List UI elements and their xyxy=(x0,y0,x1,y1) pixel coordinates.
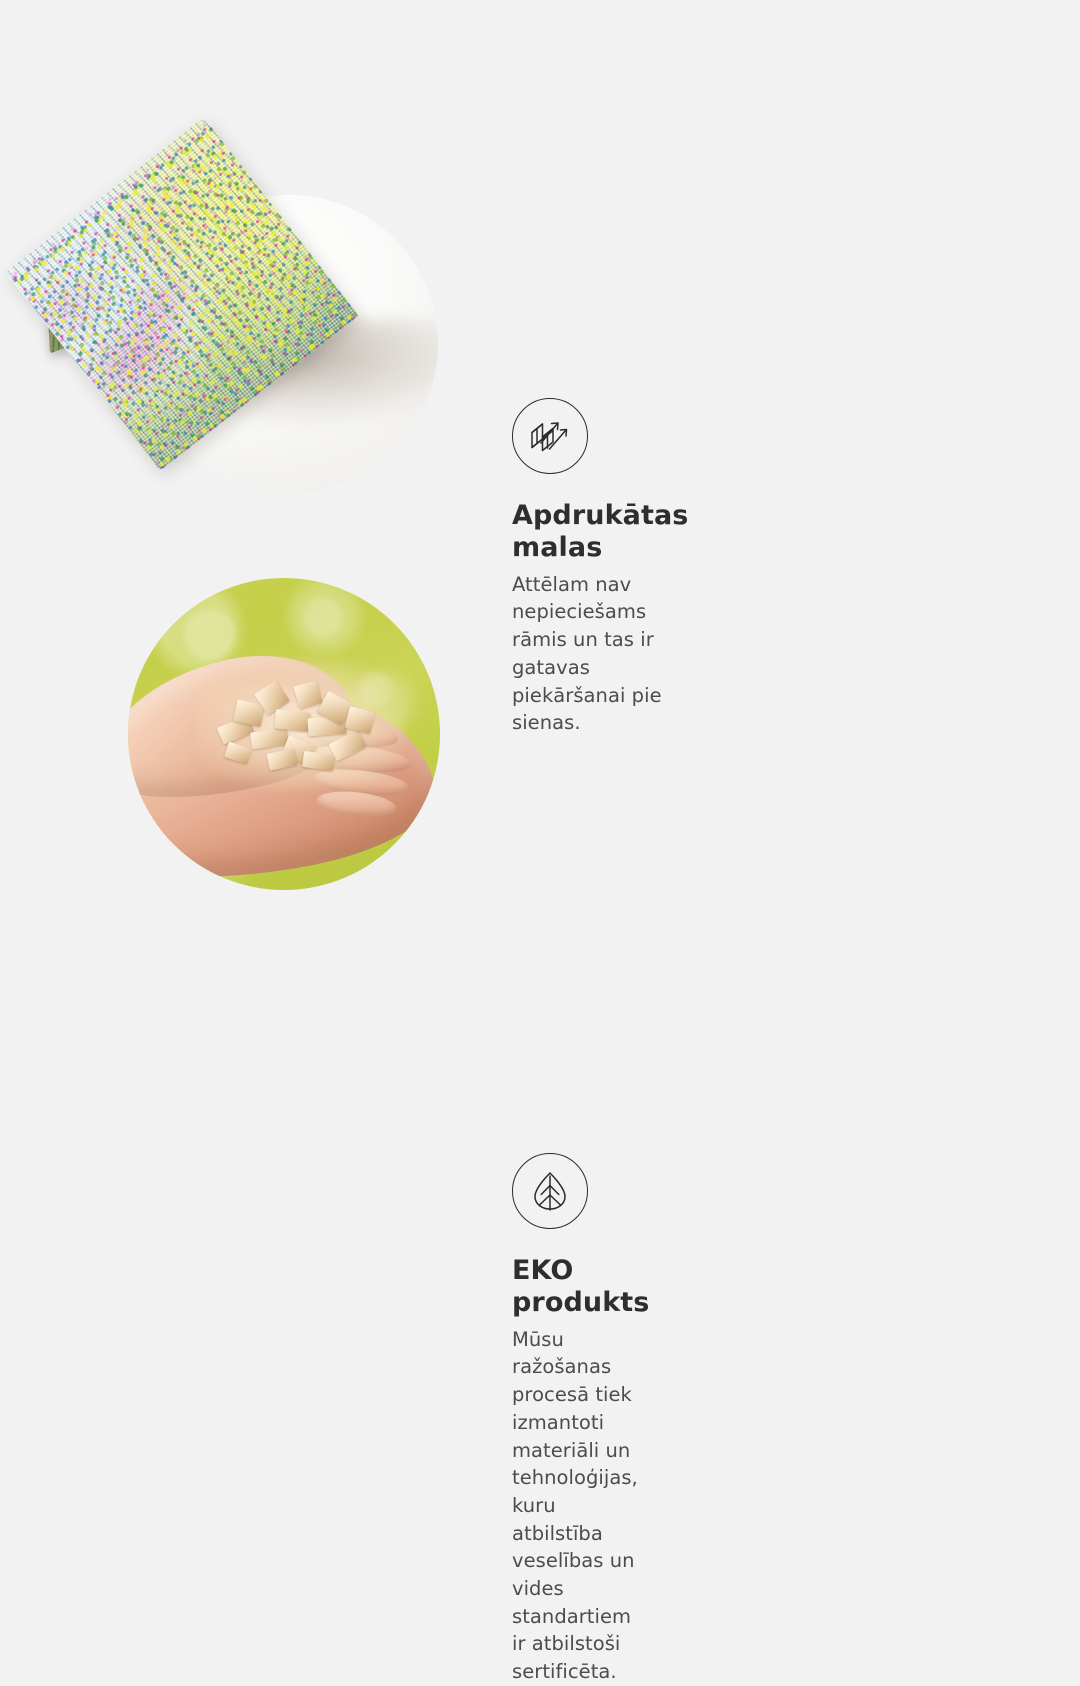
wood-chip-pile xyxy=(212,675,387,781)
leaf-glyph xyxy=(528,1169,572,1213)
wood-chip xyxy=(302,751,335,771)
feature-block-printed-edges: Apdrukātas malas Attēlam nav nepieciešam… xyxy=(0,170,512,530)
cupped-hands xyxy=(128,578,440,890)
wood-chip xyxy=(250,727,289,749)
feature-text-printed-edges: Apdrukātas malas Attēlam nav nepieciešam… xyxy=(512,398,688,737)
feature-description: Attēlam nav nepieciešams rāmis un tas ir… xyxy=(512,571,688,737)
canvas-paint-texture xyxy=(5,117,359,471)
printed-edges-glyph xyxy=(527,413,573,459)
canvas-corner-photo xyxy=(0,170,512,530)
printed-edges-icon xyxy=(512,398,588,474)
product-feature-infographic: Apdrukātas malas Attēlam nav nepieciešam… xyxy=(0,0,1080,1080)
wood-chip xyxy=(293,680,323,709)
eco-photo-circle xyxy=(128,578,440,890)
feature-text-eco-product: EKO produkts Mūsu ražošanas procesā tiek… xyxy=(512,1153,649,1686)
canvas-artwork xyxy=(12,142,342,472)
leaf-icon xyxy=(512,1153,588,1229)
canvas-front-face xyxy=(5,117,359,471)
feature-description: Mūsu ražošanas procesā tiek izmantoti ma… xyxy=(512,1326,649,1686)
wood-chip xyxy=(224,741,252,764)
wood-chip xyxy=(274,709,311,732)
wood-chip xyxy=(267,748,298,770)
feature-block-eco-product: EKO produkts Mūsu ražošanas procesā tiek… xyxy=(0,565,512,945)
hands-wood-chips-photo xyxy=(0,565,512,945)
wood-chip xyxy=(344,706,375,734)
feature-title: EKO produkts xyxy=(512,1255,649,1320)
feature-title: Apdrukātas malas xyxy=(512,500,688,565)
